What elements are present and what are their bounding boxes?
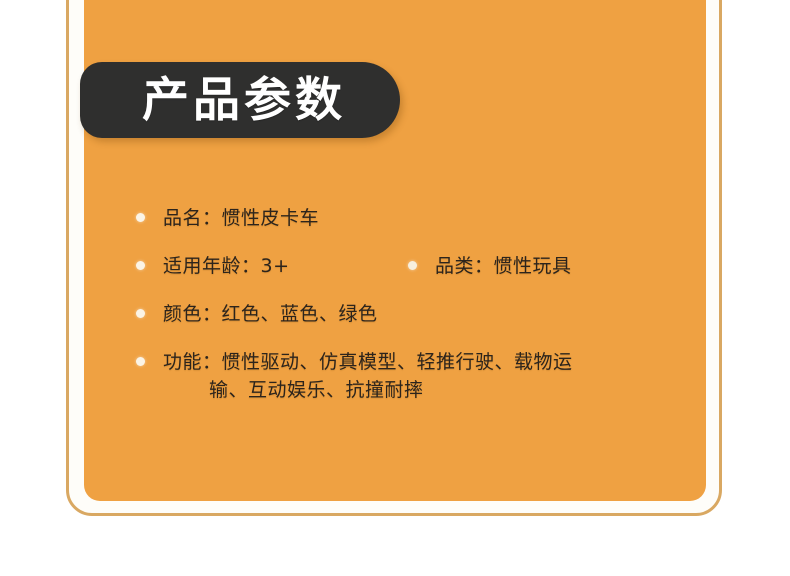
- spec-item-colors: 颜色：红色、蓝色、绿色: [136, 300, 696, 328]
- bullet-dot-icon: [136, 357, 145, 366]
- bullet-dot-icon: [136, 261, 145, 270]
- spec-item-age-range: 适用年龄：3+: [136, 252, 408, 280]
- orange-content-panel: 产品参数 品名：惯性皮卡车 适用年龄：3+ 品类：惯性玩具: [84, 0, 706, 501]
- spec-text-age-range: 适用年龄：3+: [163, 252, 290, 280]
- bullet-dot-icon: [136, 309, 145, 318]
- spec-row: 功能：惯性驱动、仿真模型、轻推行驶、载物运 输、互动娱乐、抗撞耐摔: [136, 348, 696, 404]
- section-title-text: 产品参数: [142, 77, 346, 124]
- spec-row: 颜色：红色、蓝色、绿色: [136, 300, 696, 328]
- spec-list: 品名：惯性皮卡车 适用年龄：3+ 品类：惯性玩具 颜色：红色、蓝色、绿色: [136, 204, 696, 404]
- spec-text-features-line1: 功能：惯性驱动、仿真模型、轻推行驶、载物运: [163, 351, 573, 373]
- bullet-dot-icon: [408, 261, 417, 270]
- spec-item-features: 功能：惯性驱动、仿真模型、轻推行驶、载物运 输、互动娱乐、抗撞耐摔: [136, 348, 696, 404]
- spec-text-product-name: 品名：惯性皮卡车: [163, 204, 319, 232]
- bullet-dot-icon: [136, 213, 145, 222]
- spec-text-colors: 颜色：红色、蓝色、绿色: [163, 300, 378, 328]
- spec-item-category: 品类：惯性玩具: [408, 252, 696, 280]
- spec-text-features-line2: 输、互动娱乐、抗撞耐摔: [163, 376, 573, 404]
- spec-text-features: 功能：惯性驱动、仿真模型、轻推行驶、载物运 输、互动娱乐、抗撞耐摔: [163, 348, 573, 404]
- spec-row: 品名：惯性皮卡车: [136, 204, 696, 232]
- product-spec-page: 产品参数 品名：惯性皮卡车 适用年龄：3+ 品类：惯性玩具: [0, 0, 790, 576]
- section-title-badge: 产品参数: [80, 62, 400, 138]
- spec-row: 适用年龄：3+ 品类：惯性玩具: [136, 252, 696, 280]
- spec-item-product-name: 品名：惯性皮卡车: [136, 204, 408, 232]
- spec-text-category: 品类：惯性玩具: [435, 252, 572, 280]
